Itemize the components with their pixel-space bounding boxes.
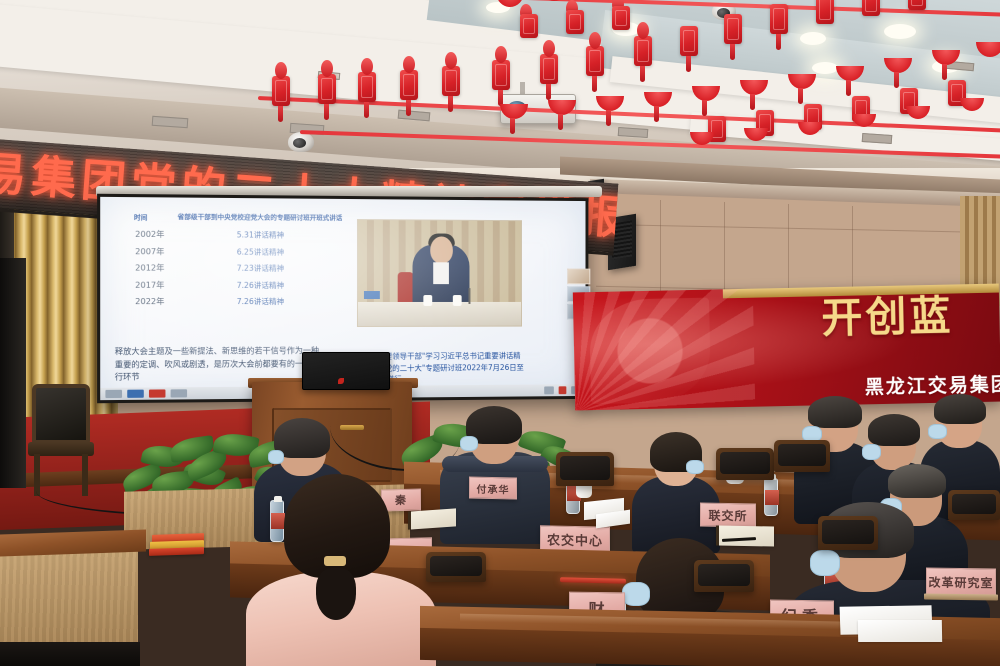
water-bottle[interactable] — [764, 478, 778, 516]
podium-laptop[interactable] — [302, 352, 390, 390]
placard-label: 农交中心 — [547, 529, 603, 549]
attendee — [440, 412, 550, 536]
conference-hall-photo: 易集团党的二十大精神宣讲报告会 时间 省部级干部到中央党校迎党大会的专题研讨班开… — [0, 0, 1000, 666]
conference-chair[interactable] — [948, 490, 1000, 520]
red-banner-headline: 开创蓝 — [821, 293, 954, 342]
taskbar-item[interactable] — [171, 389, 187, 397]
placard-label: 付承华 — [477, 480, 510, 496]
ceiling-light — [800, 32, 826, 45]
slide-row-value: 7.26讲话精神 — [171, 296, 349, 307]
conference-chair[interactable] — [818, 516, 878, 550]
slide-row-year: 2022年 — [117, 296, 165, 307]
taskbar-tray-icon[interactable] — [559, 386, 567, 394]
video-thumbnail[interactable] — [567, 269, 590, 285]
foreground-post — [0, 258, 26, 488]
placard-label: 联交所 — [708, 506, 747, 524]
table-row: 2022年 7.26讲话精神 — [117, 296, 349, 307]
taskbar-item[interactable] — [127, 390, 144, 398]
placard-gaigeyanjiushi: 改革研究室 — [926, 568, 996, 597]
table-row: 2002年 5.31讲话精神 — [117, 229, 349, 241]
red-backdrop-banner: 开创蓝 黑龙江交易集团 — [573, 284, 1000, 411]
attendee-foreground — [246, 486, 436, 666]
dome-camera-icon — [288, 132, 314, 152]
red-banner-subline: 黑龙江交易集团 — [865, 369, 1000, 399]
slide-row-value: 7.26讲话精神 — [171, 279, 349, 290]
attendee — [632, 436, 720, 546]
slide-row-value: 6.25讲话精神 — [171, 246, 349, 258]
ceiling-light — [812, 62, 838, 74]
taskbar-tray-icon[interactable] — [544, 386, 554, 394]
ceiling-light — [884, 24, 916, 39]
slide-photo — [357, 219, 522, 327]
document-paper[interactable] — [858, 620, 942, 642]
booklet[interactable] — [149, 547, 204, 556]
slide-table: 时间 省部级干部到中央党校迎党大会的专题研讨班开班式讲话 2002年 5.31讲… — [117, 211, 349, 313]
table-row: 2007年 6.25讲话精神 — [117, 245, 349, 257]
table-row: 2012年 7.23讲话精神 — [117, 262, 349, 274]
slide-row-value: 7.23讲话精神 — [171, 262, 349, 274]
taskbar-item[interactable] — [105, 390, 122, 398]
slide-table-header-time: 时间 — [117, 211, 165, 222]
slide-table-header-title: 省部级干部到中央党校迎党大会的专题研讨班开班式讲话 — [171, 212, 349, 223]
slide-row-year: 2007年 — [117, 245, 165, 256]
table-row: 2017年 7.26讲话精神 — [117, 279, 349, 290]
conference-chair[interactable] — [716, 448, 774, 480]
slide-row-value: 5.31讲话精神 — [171, 229, 349, 241]
laptop-logo-icon — [338, 378, 344, 384]
placard-lianjiaosuo: 联交所 — [700, 503, 756, 528]
conference-chair[interactable] — [694, 560, 754, 592]
conference-chair[interactable] — [426, 552, 486, 582]
conference-chair[interactable] — [556, 452, 614, 486]
slide-row-year: 2017年 — [117, 279, 165, 290]
notebook[interactable] — [716, 525, 774, 546]
taskbar-item[interactable] — [149, 389, 166, 397]
slide-row-year: 2002年 — [117, 229, 165, 240]
conference-chair[interactable] — [774, 440, 830, 472]
placard-fuchenghua: 付承华 — [469, 476, 517, 499]
placard-label: 改革研究室 — [928, 573, 993, 591]
slide-row-year: 2012年 — [117, 262, 165, 273]
